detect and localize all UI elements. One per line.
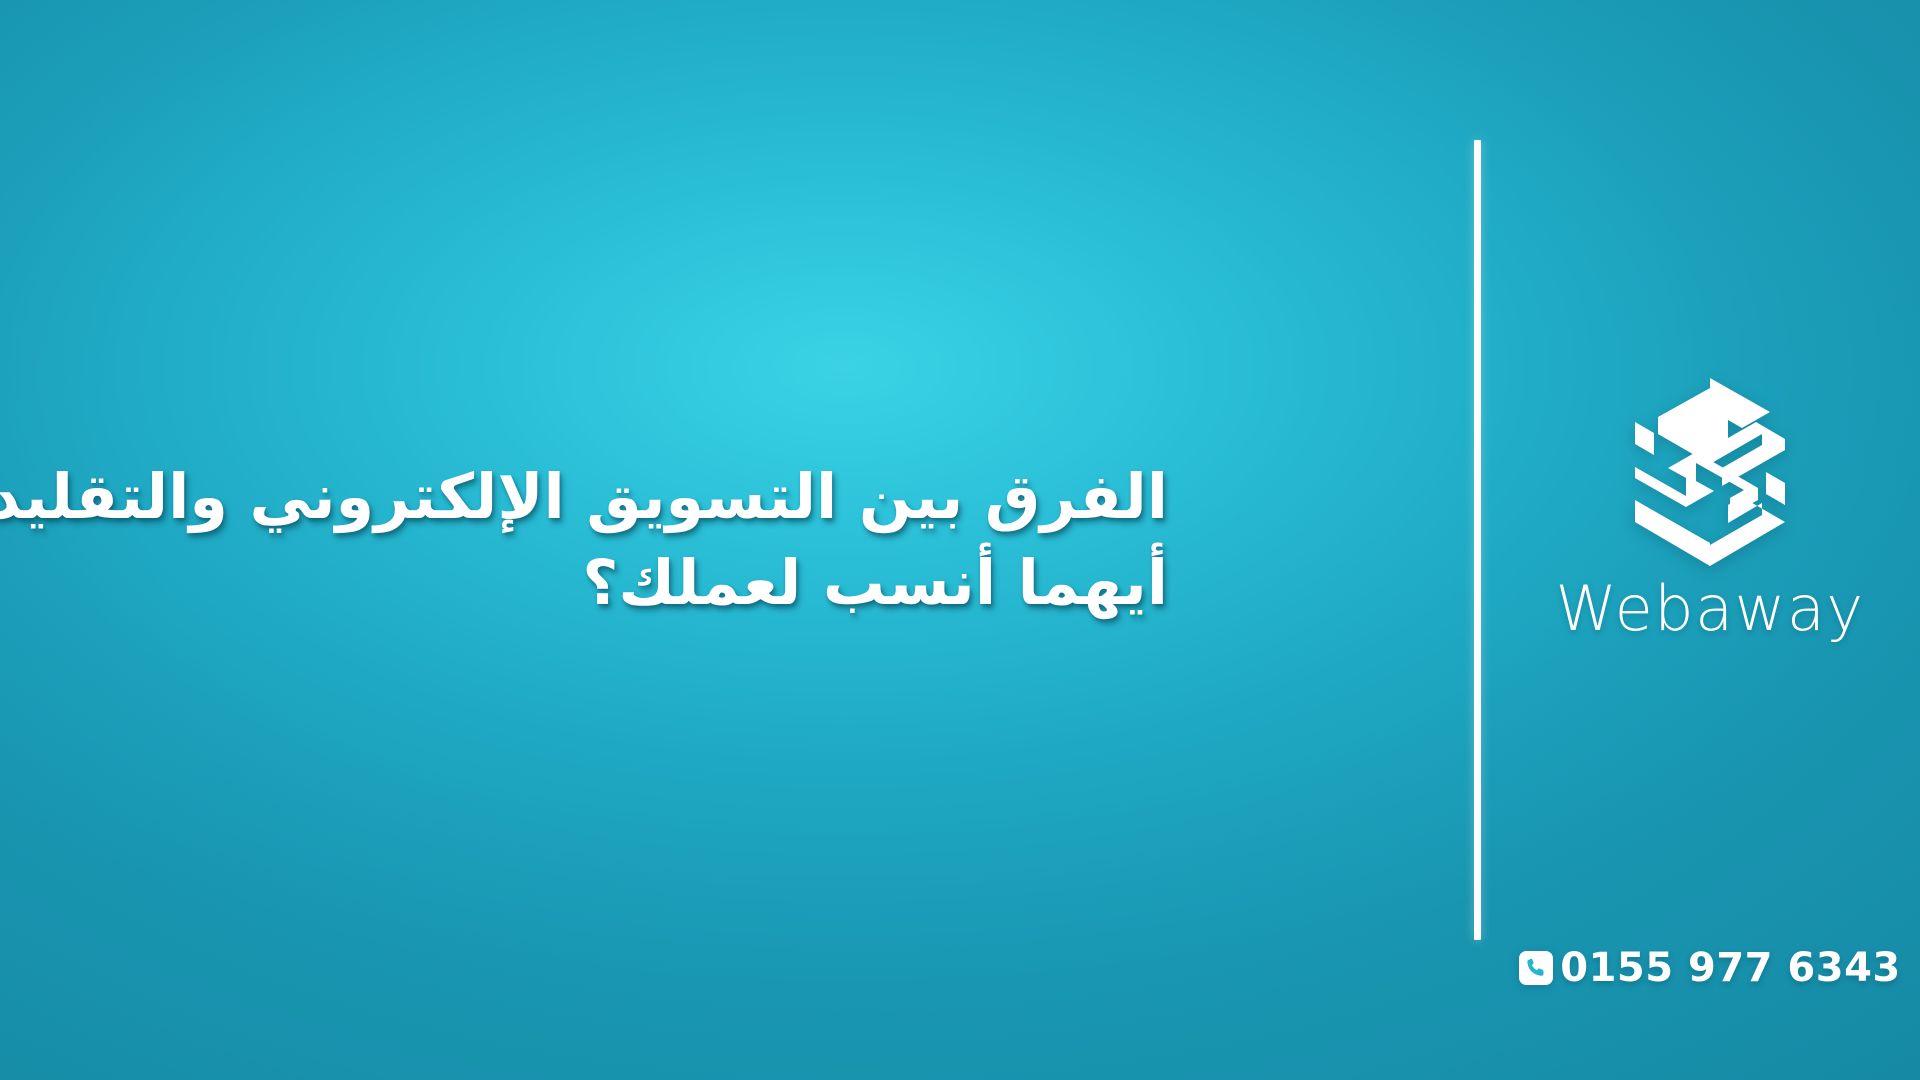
brand-wordmark: Webaway xyxy=(1500,578,1920,640)
headline-line-2: أيهما أنسب لعملك؟ xyxy=(0,542,1168,624)
banner-root: الفرق بين التسويق الإلكتروني والتقليدي أ… xyxy=(0,0,1920,1080)
phone-number: 0155 977 6343 xyxy=(1560,948,1901,988)
headline-line-1: الفرق بين التسويق الإلكتروني والتقليدي xyxy=(0,456,1168,538)
brand-panel: Webaway 0155 977 6343 xyxy=(1500,0,1920,1080)
vertical-divider xyxy=(1474,140,1481,940)
phone-icon xyxy=(1519,951,1553,985)
contact-phone-row[interactable]: 0155 977 6343 xyxy=(1500,948,1920,988)
webaway-hexagon-w-logo-icon xyxy=(1610,372,1810,572)
headline-container: الفرق بين التسويق الإلكتروني والتقليدي أ… xyxy=(0,0,1190,1080)
logo-block: Webaway xyxy=(1500,372,1920,640)
headline: الفرق بين التسويق الإلكتروني والتقليدي أ… xyxy=(0,456,1168,624)
